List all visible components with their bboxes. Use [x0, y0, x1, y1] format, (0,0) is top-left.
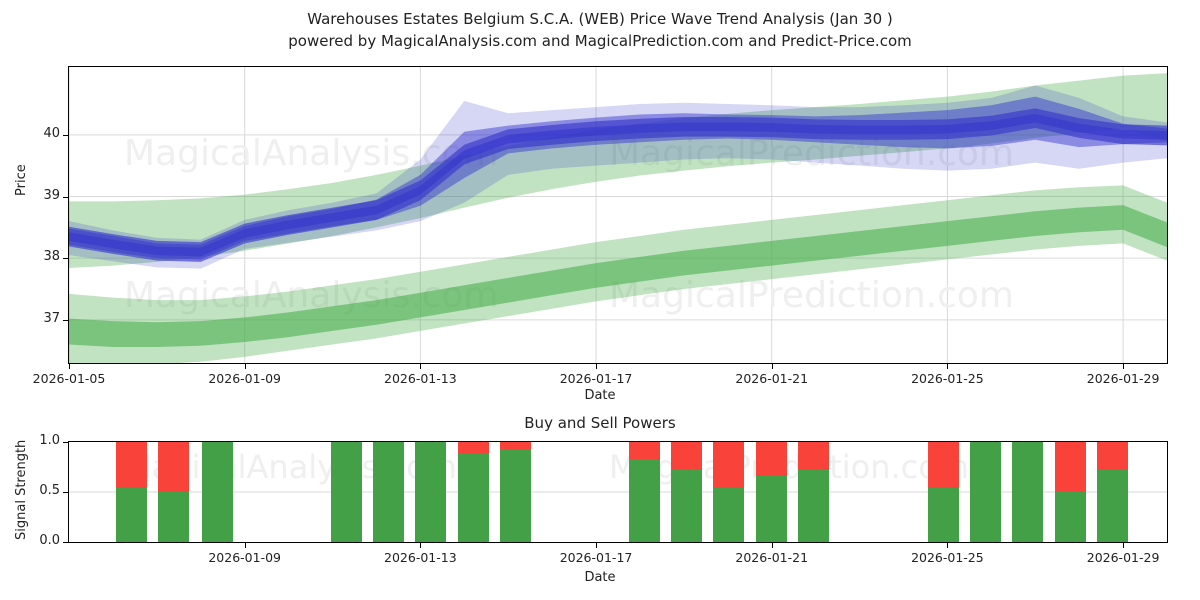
chart-title-block: Warehouses Estates Belgium S.C.A. (WEB) …	[0, 8, 1200, 52]
signal-ytick-label: 0.0	[8, 533, 60, 548]
buy-power-bar[interactable]	[331, 442, 362, 542]
page-title: Warehouses Estates Belgium S.C.A. (WEB) …	[0, 8, 1200, 30]
price-xtick-mark	[772, 364, 773, 369]
powers-xtick-mark	[947, 543, 948, 548]
signal-ytick-mark	[63, 442, 68, 443]
signal-ytick-mark	[63, 542, 68, 543]
powers-title: Buy and Sell Powers	[0, 414, 1200, 432]
price-xtick-mark	[420, 364, 421, 369]
buy-power-bar[interactable]	[798, 470, 829, 542]
sell-power-bar[interactable]	[458, 442, 489, 454]
buy-sell-powers-chart: MagicalAnalysis.comMagicalPrediction.com	[68, 441, 1168, 543]
sell-power-bar[interactable]	[158, 442, 189, 492]
price-xtick-label: 2026-01-17	[560, 371, 633, 386]
price-xtick-mark	[245, 364, 246, 369]
powers-xaxis-label: Date	[0, 570, 1200, 585]
buy-power-bar[interactable]	[415, 442, 446, 542]
price-xtick-label: 2026-01-05	[33, 371, 106, 386]
price-wave-chart: MagicalAnalysis.comMagicalPrediction.com…	[68, 66, 1168, 364]
powers-xtick-label: 2026-01-21	[735, 550, 808, 565]
powers-xtick-mark	[596, 543, 597, 548]
price-ytick-label: 37	[8, 311, 60, 326]
price-xtick-label: 2026-01-25	[911, 371, 984, 386]
sell-power-bar[interactable]	[756, 442, 787, 476]
buy-power-bar[interactable]	[202, 442, 233, 542]
sell-power-bar[interactable]	[713, 442, 744, 488]
buy-power-bar[interactable]	[1097, 470, 1128, 542]
price-xaxis-label: Date	[0, 388, 1200, 403]
powers-xtick-label: 2026-01-25	[911, 550, 984, 565]
signal-ytick-label: 0.5	[8, 483, 60, 498]
buy-power-bar[interactable]	[756, 476, 787, 542]
buy-power-bar[interactable]	[713, 488, 744, 542]
page-subtitle: powered by MagicalAnalysis.com and Magic…	[0, 30, 1200, 52]
price-xtick-mark	[596, 364, 597, 369]
sell-power-bar[interactable]	[629, 442, 660, 459]
price-xtick-label: 2026-01-09	[208, 371, 281, 386]
price-ytick-label: 40	[8, 126, 60, 141]
sell-power-bar[interactable]	[798, 442, 829, 470]
price-ytick-mark	[63, 258, 68, 259]
buy-power-bar[interactable]	[1055, 492, 1086, 542]
price-xtick-mark	[69, 364, 70, 369]
price-ytick-mark	[63, 320, 68, 321]
buy-power-bar[interactable]	[116, 488, 147, 542]
sell-power-bar[interactable]	[116, 442, 147, 488]
buy-power-bar[interactable]	[458, 454, 489, 542]
sell-power-bar[interactable]	[928, 442, 959, 488]
price-xtick-label: 2026-01-29	[1087, 371, 1160, 386]
price-ytick-mark	[63, 135, 68, 136]
price-ytick-label: 39	[8, 188, 60, 203]
buy-power-bar[interactable]	[158, 492, 189, 542]
sell-power-bar[interactable]	[1097, 442, 1128, 470]
sell-power-bar[interactable]	[500, 442, 531, 449]
price-xtick-mark	[947, 364, 948, 369]
price-xtick-mark	[1123, 364, 1124, 369]
sell-power-bar[interactable]	[1055, 442, 1086, 492]
powers-xtick-label: 2026-01-09	[208, 550, 281, 565]
powers-xtick-mark	[1123, 543, 1124, 548]
price-xtick-label: 2026-01-21	[735, 371, 808, 386]
buy-power-bar[interactable]	[928, 488, 959, 542]
powers-xtick-mark	[245, 543, 246, 548]
buy-power-bar[interactable]	[373, 442, 404, 542]
powers-xtick-label: 2026-01-13	[384, 550, 457, 565]
signal-ytick-mark	[63, 492, 68, 493]
powers-xtick-mark	[772, 543, 773, 548]
svg-text:MagicalPrediction.com: MagicalPrediction.com	[609, 448, 969, 486]
sell-power-bar[interactable]	[671, 442, 702, 470]
buy-power-bar[interactable]	[671, 470, 702, 542]
price-xtick-label: 2026-01-13	[384, 371, 457, 386]
buy-power-bar[interactable]	[1012, 442, 1043, 542]
price-wave-svg: MagicalAnalysis.comMagicalPrediction.com…	[69, 67, 1167, 363]
buy-power-bar[interactable]	[629, 459, 660, 542]
powers-xtick-mark	[420, 543, 421, 548]
powers-xtick-label: 2026-01-17	[560, 550, 633, 565]
price-ytick-label: 38	[8, 249, 60, 264]
price-ytick-mark	[63, 197, 68, 198]
buy-power-bar[interactable]	[500, 449, 531, 542]
signal-ytick-label: 1.0	[8, 433, 60, 448]
buy-sell-powers-svg: MagicalAnalysis.comMagicalPrediction.com	[69, 442, 1167, 542]
buy-power-bar[interactable]	[970, 442, 1001, 542]
powers-xtick-label: 2026-01-29	[1087, 550, 1160, 565]
